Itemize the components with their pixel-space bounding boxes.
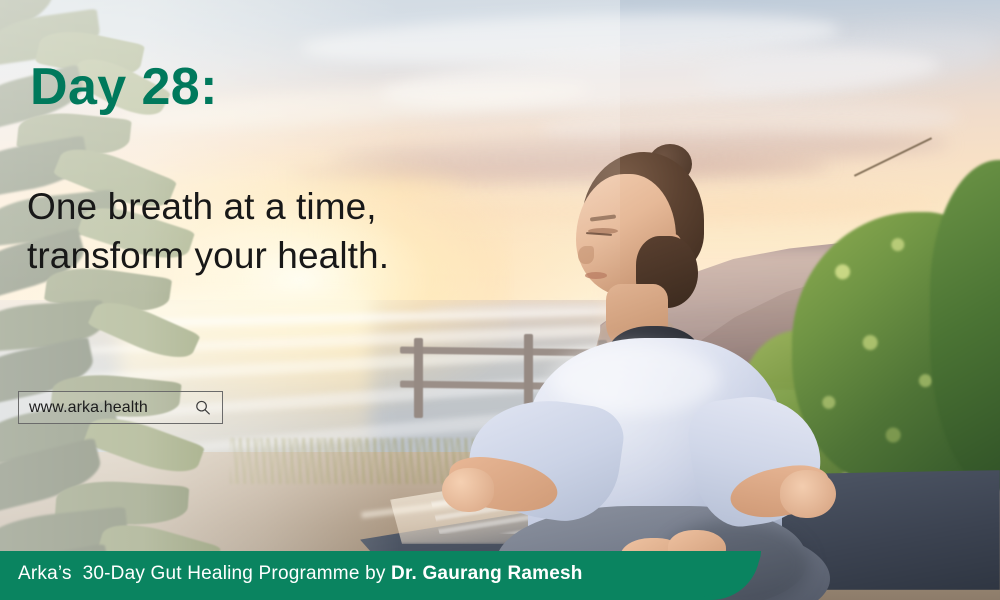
footer-text: Arka’s 30-Day Gut Healing Programme by D…	[18, 563, 583, 585]
nose	[578, 246, 594, 264]
quote-text: One breath at a time, transform your hea…	[27, 182, 467, 280]
left-hand-mudra	[442, 468, 494, 512]
quote-line-1: One breath at a time,	[27, 182, 467, 231]
footer-programme-label: Arka’s 30-Day Gut Healing Programme by	[18, 563, 391, 584]
right-hand-mudra	[780, 470, 836, 518]
meditating-woman	[430, 138, 850, 568]
website-url-badge[interactable]: www.arka.health	[18, 391, 223, 424]
promo-card: Day 28: One breath at a time, transform …	[0, 0, 1000, 600]
page-title: Day 28:	[30, 57, 218, 117]
quote-line-2: transform your health.	[27, 231, 467, 280]
footer-author-name: Dr. Gaurang Ramesh	[391, 563, 583, 584]
search-icon[interactable]	[194, 399, 212, 417]
lips	[585, 272, 607, 279]
website-url-text: www.arka.health	[29, 399, 194, 417]
